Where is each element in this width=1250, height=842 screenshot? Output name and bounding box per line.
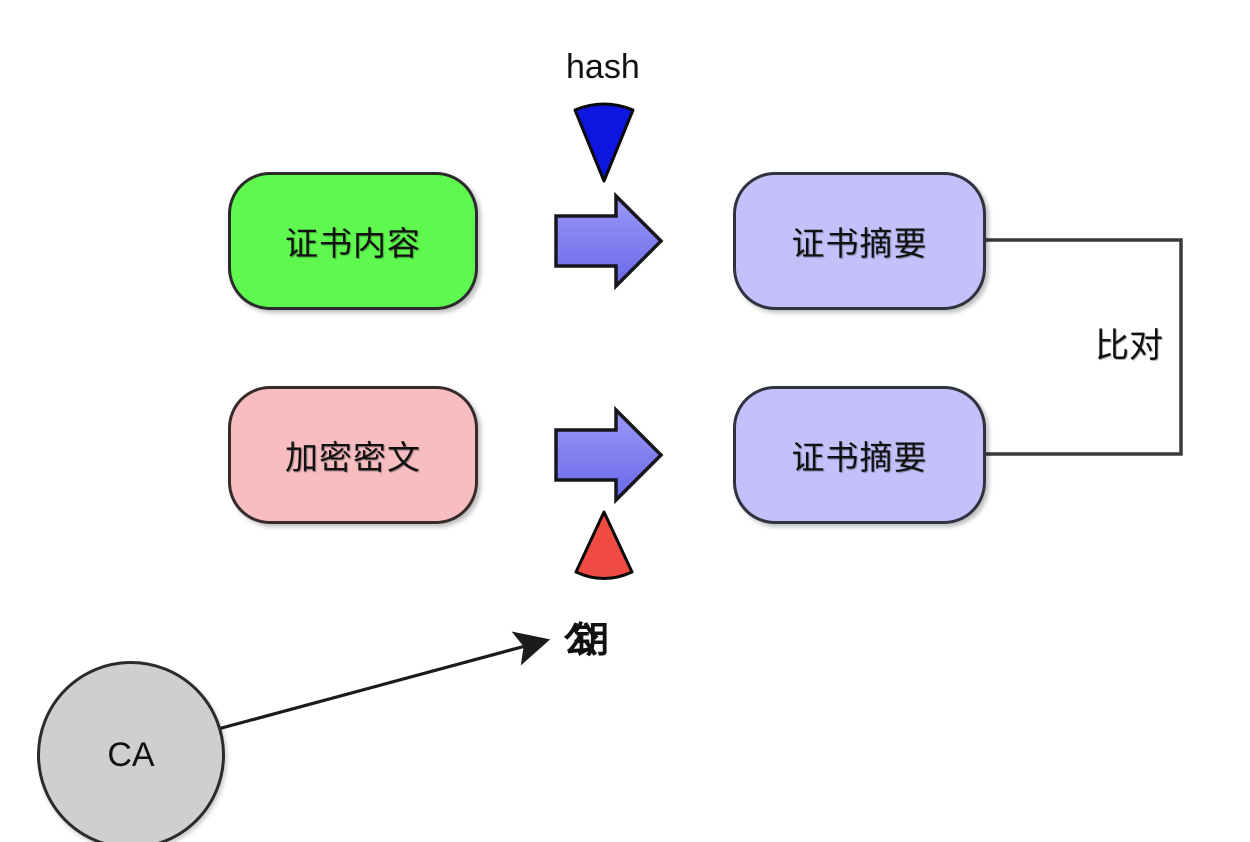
node-certificate-digest-top[interactable]: 证书摘要 [733, 172, 986, 310]
node-certificate-content-label: 证书内容 [285, 217, 421, 265]
public-key-cone-icon [576, 512, 632, 579]
node-encrypted-ciphertext[interactable]: 加密密文 [228, 386, 478, 524]
decrypt-flow-arrow-bottom [556, 410, 661, 500]
diagram-canvas: hash 证书内容 证书摘要 加密密文 证书摘要 比对 公钥 CA [0, 0, 1250, 842]
node-certificate-digest-bottom-label: 证书摘要 [792, 431, 928, 479]
compare-label: 比对 [1095, 318, 1163, 367]
hash-label: hash [566, 48, 640, 87]
node-certificate-content[interactable]: 证书内容 [228, 172, 478, 310]
hash-flow-arrow-top [556, 196, 661, 286]
node-ca[interactable]: CA [37, 661, 225, 842]
node-ca-label: CA [107, 736, 154, 775]
node-certificate-digest-bottom[interactable]: 证书摘要 [733, 386, 986, 524]
node-certificate-digest-top-label: 证书摘要 [792, 217, 928, 265]
hash-cone-icon [575, 104, 633, 181]
ca-to-public-key-arrow [218, 641, 544, 729]
public-key-label: 公钥 [563, 611, 583, 663]
node-encrypted-ciphertext-label: 加密密文 [285, 431, 421, 479]
